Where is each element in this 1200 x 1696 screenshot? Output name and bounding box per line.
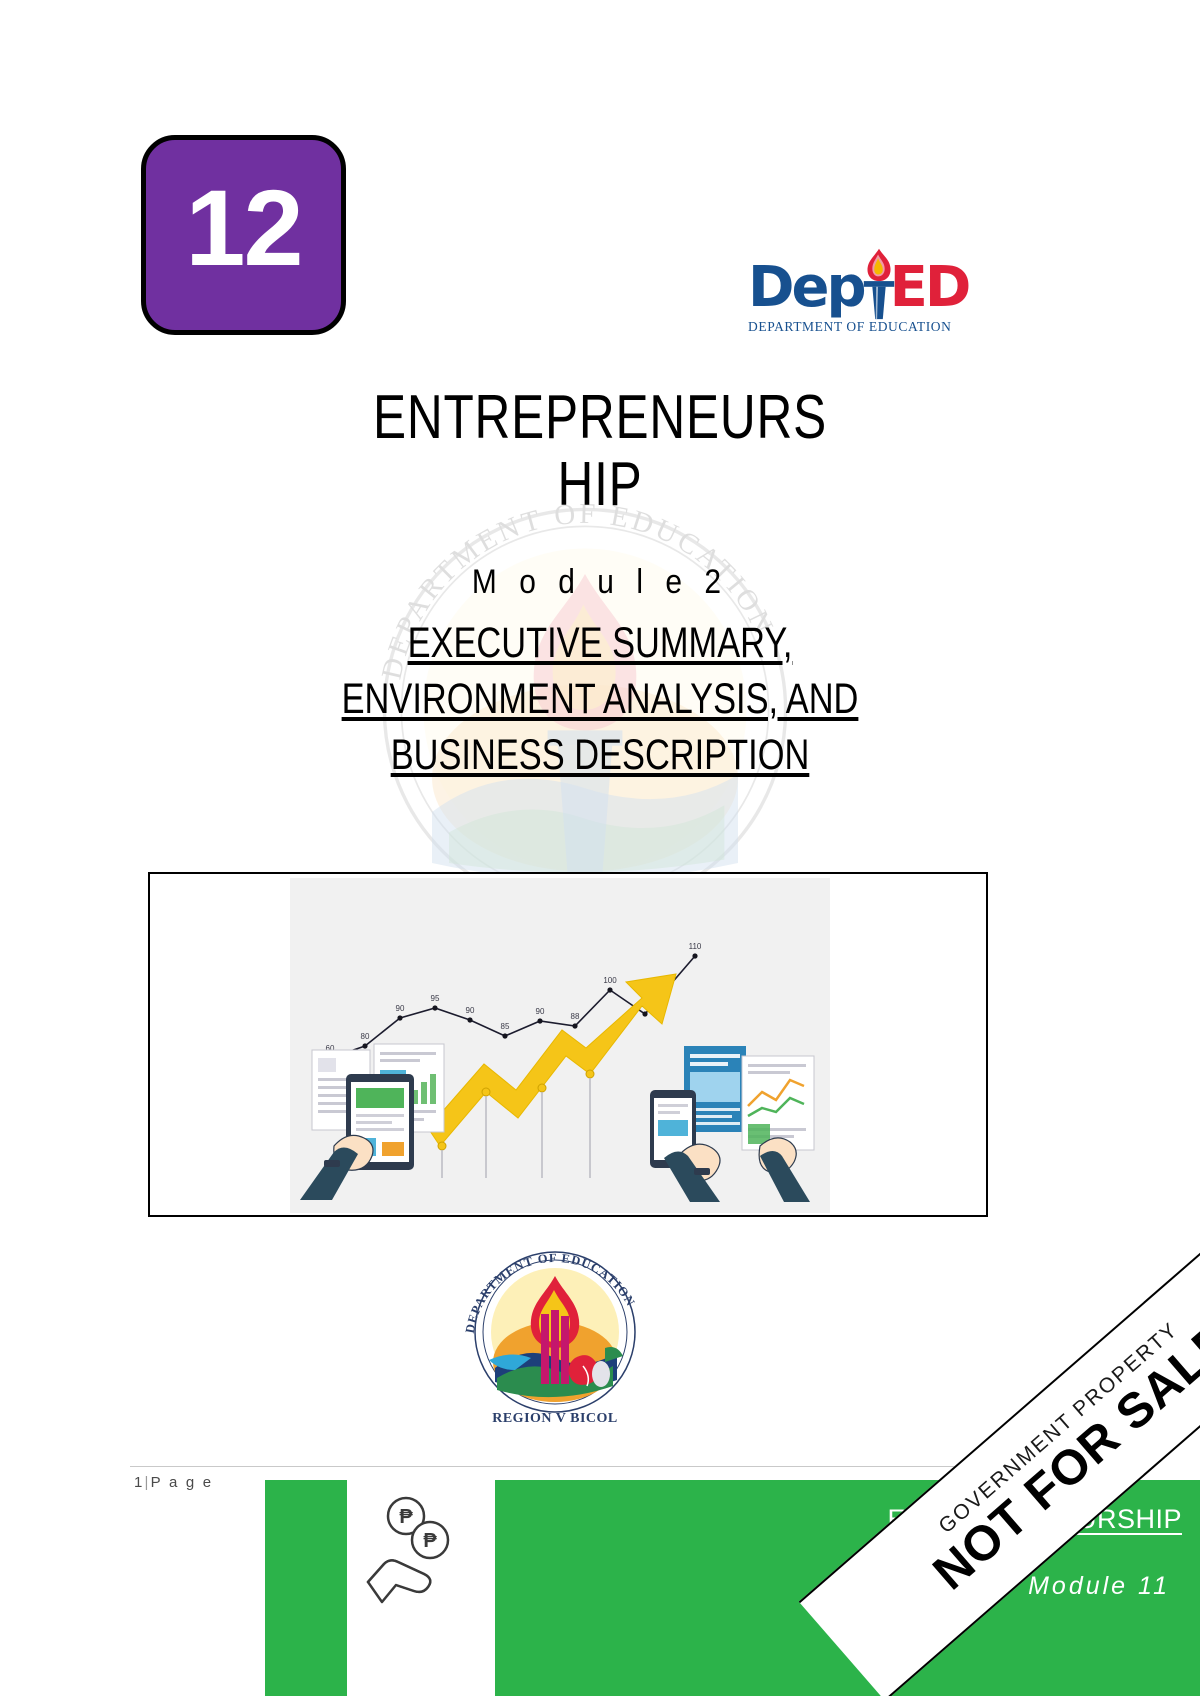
hand-holding-peso-coins-icon: ₱ ₱ — [360, 1490, 465, 1610]
module-subtitle-line-1: EXECUTIVE SUMMARY, — [408, 619, 793, 667]
deped-logo-dep-text: Dep — [748, 260, 864, 316]
module-label: M o d u l e 2 — [204, 563, 996, 602]
footer-banner-title: ENTREPRENEURSHIP — [887, 1504, 1182, 1535]
svg-text:88: 88 — [571, 1012, 580, 1021]
footer-banner: ₱ ₱ ENTREPRENEURSHIP Module 11 — [265, 1480, 1200, 1696]
deped-region-v-bicol-seal: DEPARTMENT OF EDUCATION REGION V BICOL — [455, 1240, 655, 1430]
grade-level-badge: 12 — [141, 135, 346, 335]
page-title: ENTREPRENEURS HIP — [240, 385, 960, 519]
svg-text:90: 90 — [396, 1004, 405, 1013]
footer-green-block-left — [265, 1480, 347, 1696]
title-block: ENTREPRENEURS HIP M o d u l e 2 EXECUTIV… — [150, 385, 1050, 784]
region-seal-label: REGION V BICOL — [492, 1411, 618, 1426]
deped-logo: Dep ED DEPARTMENT OF EDUCATION — [748, 252, 988, 347]
deped-logo-ed-text: ED — [890, 260, 969, 316]
grade-level-number: 12 — [185, 174, 301, 282]
module-subtitle-line-3: BUSINESS DESCRIPTION — [391, 731, 810, 779]
footer-banner-subtitle: Module 11 — [1028, 1572, 1170, 1601]
footer-green-block-right: ENTREPRENEURSHIP Module 11 — [495, 1480, 1200, 1696]
cover-illustration-frame: 608090959085908810092110 — [148, 872, 988, 1217]
svg-text:₱: ₱ — [423, 1530, 437, 1552]
svg-text:95: 95 — [431, 994, 440, 1003]
svg-text:110: 110 — [689, 942, 702, 951]
module-subtitle-line-2: ENVIRONMENT ANALYSIS, AND — [342, 675, 859, 723]
page-title-line-2: HIP — [240, 452, 960, 519]
page-number-footer: 1|P a g e — [134, 1474, 213, 1491]
cover-illustration: 608090959085908810092110 — [290, 878, 830, 1213]
svg-text:80: 80 — [361, 1032, 370, 1041]
svg-text:85: 85 — [501, 1022, 510, 1031]
svg-text:₱: ₱ — [399, 1506, 413, 1528]
page-title-line-1: ENTREPRENEURS — [240, 385, 960, 452]
svg-text:90: 90 — [536, 1007, 545, 1016]
module-subtitle: EXECUTIVE SUMMARY, ENVIRONMENT ANALYSIS,… — [240, 616, 960, 784]
deped-logo-subtitle: DEPARTMENT OF EDUCATION — [748, 319, 988, 335]
svg-text:90: 90 — [466, 1006, 475, 1015]
svg-text:100: 100 — [603, 976, 617, 985]
module-cover-page: 12 Dep ED DEPARTMENT OF EDUCATION — [0, 0, 1200, 1696]
footer-divider — [130, 1466, 1065, 1467]
page-number-value: 1 — [134, 1474, 145, 1491]
business-growth-illustration: 608090959085908810092110 — [290, 878, 830, 1213]
torch-icon — [860, 246, 898, 320]
page-number-label: P a g e — [151, 1474, 214, 1491]
deped-wordmark: Dep ED — [748, 252, 988, 316]
